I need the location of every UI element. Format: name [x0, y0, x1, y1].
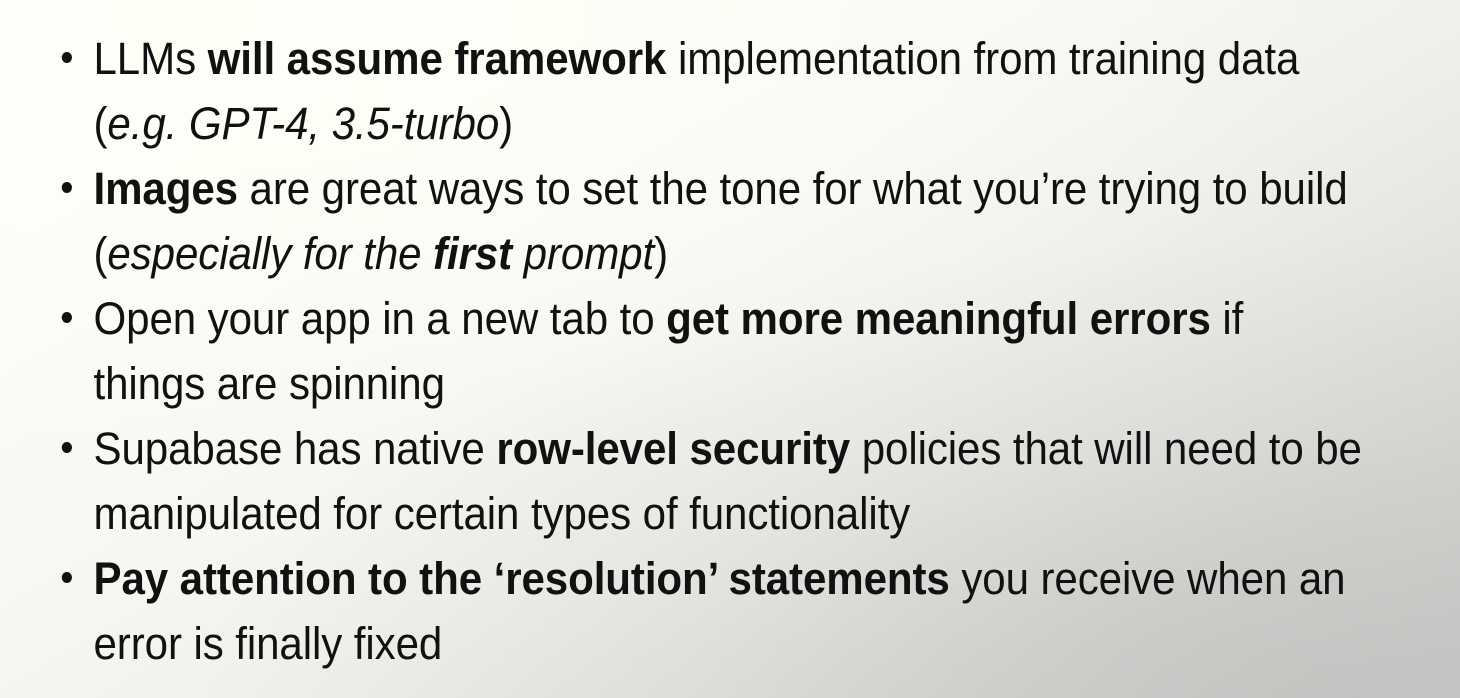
bullet-point-icon	[62, 572, 72, 583]
list-item-text: LLMs will assume framework implementatio…	[94, 26, 1366, 156]
bullet-point-icon	[62, 182, 72, 193]
bullet-point-icon	[62, 52, 72, 63]
bullet-point-icon	[62, 442, 72, 453]
list-item-text: Supabase has native row-level security p…	[94, 416, 1366, 546]
list-item-text: Open your app in a new tab to get more m…	[94, 286, 1366, 416]
slide-canvas: LLMs will assume framework implementatio…	[0, 0, 1460, 698]
list-item-text: Images are great ways to set the tone fo…	[94, 156, 1366, 286]
list-item: Images are great ways to set the tone fo…	[0, 156, 1365, 286]
list-item: Supabase has native row-level security p…	[0, 416, 1365, 546]
list-item: Open your app in a new tab to get more m…	[0, 286, 1365, 416]
list-item-text: Pay attention to the ‘resolution’ statem…	[94, 546, 1366, 676]
bullet-point-icon	[62, 312, 72, 323]
list-item: LLMs will assume framework implementatio…	[0, 26, 1365, 156]
list-item: Pay attention to the ‘resolution’ statem…	[0, 546, 1365, 676]
bullet-list: LLMs will assume framework implementatio…	[0, 0, 1460, 676]
